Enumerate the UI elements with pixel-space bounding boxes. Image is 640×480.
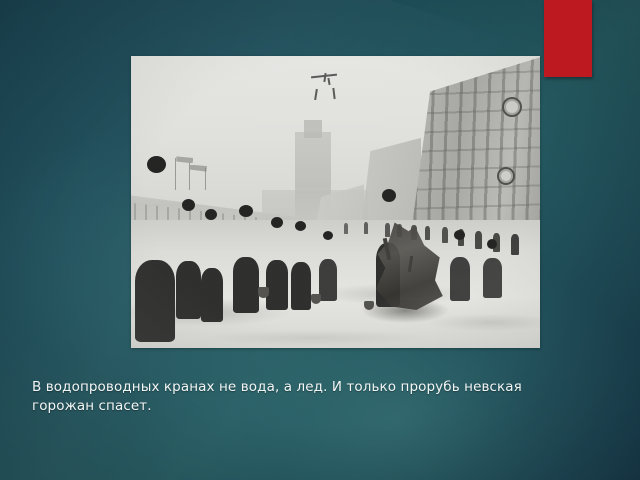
photo-frame[interactable] xyxy=(131,56,540,348)
person-figure xyxy=(266,260,288,310)
person-figure xyxy=(176,261,201,319)
person-figure xyxy=(201,268,223,322)
red-accent-bar xyxy=(544,0,592,77)
street-sign-upper-icon xyxy=(502,97,522,117)
water-bucket xyxy=(258,287,269,298)
slide: В водопроводных кранах не вода, а лед. И… xyxy=(0,0,640,480)
roof-flags-icon xyxy=(160,132,258,190)
slide-caption: В водопроводных кранах не вода, а лед. И… xyxy=(32,378,572,416)
person-figure xyxy=(483,258,502,298)
person-figure xyxy=(291,262,311,310)
distant-tower-spire xyxy=(304,120,322,138)
person-figure xyxy=(135,260,175,342)
person-figure xyxy=(319,259,337,301)
person-figure xyxy=(233,257,259,313)
aircraft-marks-icon xyxy=(295,71,369,106)
historical-photograph xyxy=(131,56,540,348)
